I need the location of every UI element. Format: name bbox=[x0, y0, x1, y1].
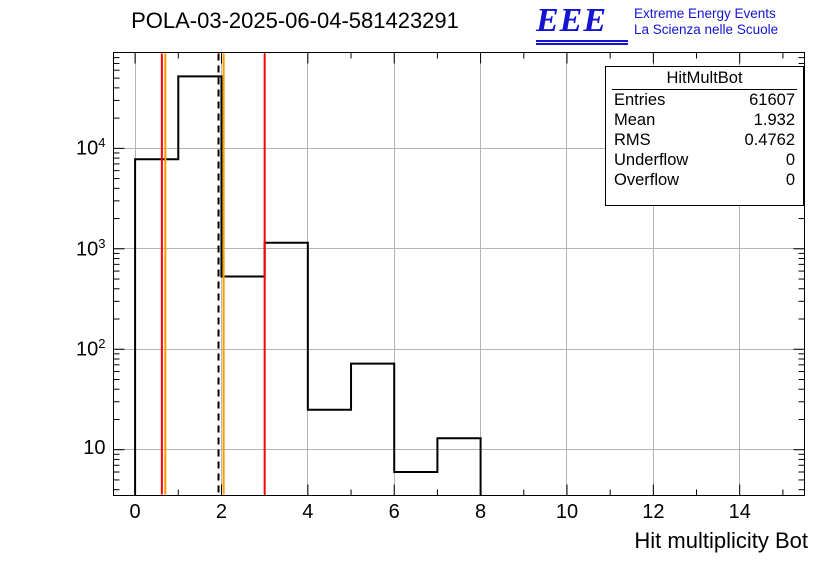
x-gridline bbox=[221, 53, 222, 495]
stats-row-label: Overflow bbox=[614, 171, 679, 190]
x-tick-label: 10 bbox=[547, 501, 587, 524]
x-gridline bbox=[394, 53, 395, 495]
stats-title: HitMultBot bbox=[612, 67, 797, 90]
chart-page: POLA-03-2025-06-04-581423291 EEE Extreme… bbox=[0, 0, 836, 572]
stats-row: Underflow0 bbox=[606, 150, 803, 170]
stats-box: HitMultBot Entries61607Mean1.932RMS0.476… bbox=[605, 66, 804, 206]
x-tick-label: 14 bbox=[720, 501, 760, 524]
y-gridline bbox=[114, 449, 804, 450]
y-tick-label: 10 bbox=[36, 437, 106, 460]
stats-row: Mean1.932 bbox=[606, 110, 803, 130]
stats-row-value: 61607 bbox=[749, 91, 795, 110]
stats-row-label: RMS bbox=[614, 131, 651, 150]
x-tick-label: 6 bbox=[374, 501, 414, 524]
y-tick-label: 104 bbox=[36, 135, 106, 161]
eee-logo-mark: EEE bbox=[536, 4, 626, 40]
stats-row: Overflow0 bbox=[606, 170, 803, 190]
x-gridline bbox=[135, 53, 136, 495]
page-title: POLA-03-2025-06-04-581423291 bbox=[85, 8, 505, 34]
y-tick-label: 103 bbox=[36, 236, 106, 262]
y-tick-label: 102 bbox=[36, 336, 106, 362]
x-gridline bbox=[480, 53, 481, 495]
x-axis-title: Hit multiplicity Bot bbox=[634, 528, 808, 554]
stats-row-label: Mean bbox=[614, 111, 655, 130]
stats-row: RMS0.4762 bbox=[606, 130, 803, 150]
eee-logo-line2: La Scienza nelle Scuole bbox=[634, 22, 834, 38]
x-tick-label: 8 bbox=[461, 501, 501, 524]
stats-row-value: 0 bbox=[786, 171, 795, 190]
x-tick-label: 4 bbox=[288, 501, 328, 524]
stats-row-value: 0 bbox=[786, 151, 795, 170]
eee-logo-text: Extreme Energy Events La Scienza nelle S… bbox=[634, 6, 834, 38]
stats-row-label: Underflow bbox=[614, 151, 688, 170]
stats-row: Entries61607 bbox=[606, 90, 803, 110]
stats-row-label: Entries bbox=[614, 91, 665, 110]
x-tick-label: 0 bbox=[115, 501, 155, 524]
x-gridline bbox=[566, 53, 567, 495]
y-gridline bbox=[114, 349, 804, 350]
eee-logo-line1: Extreme Energy Events bbox=[634, 6, 834, 22]
stats-row-value: 0.4762 bbox=[745, 131, 795, 150]
x-tick-label: 2 bbox=[201, 501, 241, 524]
x-gridline bbox=[307, 53, 308, 495]
stats-row-value: 1.932 bbox=[754, 111, 795, 130]
eee-logo: EEE Extreme Energy Events La Scienza nel… bbox=[536, 4, 832, 44]
x-tick-label: 12 bbox=[633, 501, 673, 524]
eee-logo-bars bbox=[536, 40, 628, 45]
y-gridline bbox=[114, 248, 804, 249]
